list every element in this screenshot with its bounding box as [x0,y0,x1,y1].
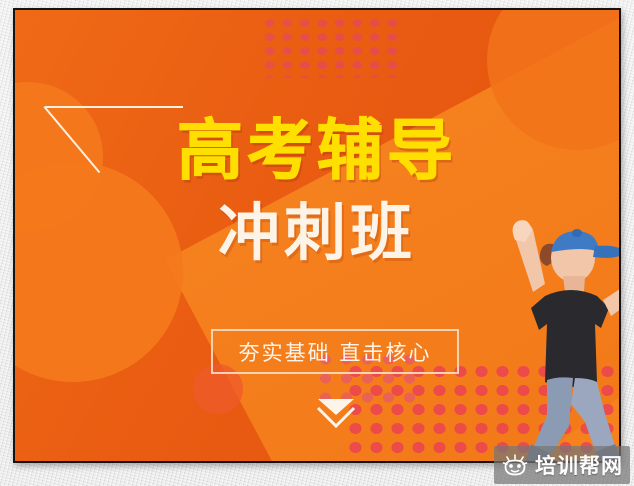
poster-frame: 高考辅导 冲刺班 夯实基础 直击核心 [13,8,621,463]
poster-title-sub: 冲刺班 [15,202,619,264]
poster-title-main: 高考辅导 [15,118,619,184]
watermark: 培训帮网 [494,446,630,484]
headline-block: 高考辅导 冲刺班 [15,118,619,264]
chevron-down-arrow-icon [314,395,358,433]
tagline-box: 夯实基础 直击核心 [211,329,459,374]
poster-artwork: 高考辅导 冲刺班 夯实基础 直击核心 [15,10,619,461]
screenshot-canvas: 高考辅导 冲刺班 夯实基础 直击核心 [0,0,634,486]
dot-grid-top [261,16,406,78]
owl-face-icon [502,454,528,476]
watermark-text: 培训帮网 [535,450,623,480]
tagline-text: 夯实基础 直击核心 [239,337,432,367]
